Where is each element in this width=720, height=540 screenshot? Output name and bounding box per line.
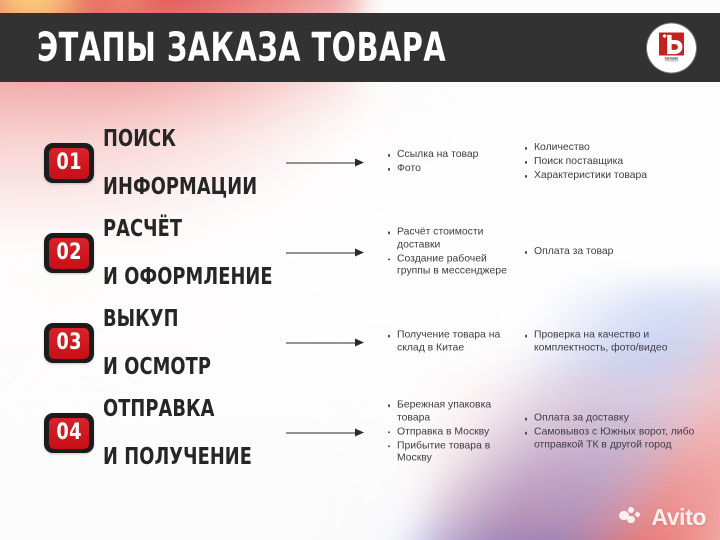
step-number-badge: 01 (44, 143, 94, 183)
arrow-line (286, 433, 356, 434)
bullet-item: Создание рабочей группы в мессенджере (386, 253, 518, 278)
step-title-line1: ОТПРАВКА (103, 397, 252, 421)
step-bullets-column-a: Ссылка на товарФото (386, 149, 518, 177)
bullet-item: Получение товара на склад в Китае (386, 330, 518, 355)
page-title: ЭТАПЫ ЗАКАЗА ТОВАРА (37, 28, 446, 68)
header-banner: ЭТАПЫ ЗАКАЗА ТОВАРА biztrade internation… (0, 13, 720, 82)
avito-wordmark: Avito (651, 506, 706, 529)
step-title-line1: ПОИСК (103, 127, 257, 151)
arrow-head (355, 429, 364, 437)
step-number-label: 03 (56, 332, 81, 354)
step-title-line1: РАСЧЁТ (103, 217, 273, 241)
avito-watermark: Avito (619, 502, 706, 532)
bullet-item: Поиск поставщика (523, 156, 703, 169)
bullet-item: Бережная упаковка товара (386, 399, 518, 424)
step-title-line2: И ПОЛУЧЕНИЕ (103, 445, 252, 469)
step-number-badge-inner: 01 (49, 148, 89, 179)
arrow-line (286, 163, 356, 164)
bullet-item: Расчёт стоимости доставки (386, 226, 518, 251)
biztrade-logo: biztrade international (647, 23, 696, 72)
arrow-head (355, 249, 364, 257)
arrow-right-icon (286, 429, 364, 438)
bullet-list: Расчёт стоимости доставкиСоздание рабоче… (386, 226, 518, 278)
bullet-item: Фото (386, 163, 518, 176)
step-title-line1: ВЫКУП (103, 307, 211, 331)
bullet-item: Ссылка на товар (386, 149, 518, 162)
bullet-list: Оплата за товар (523, 246, 703, 259)
bullet-list: Бережная упаковка товараОтправка в Москв… (386, 399, 518, 465)
step-bullets-column-b: Оплата за доставкуСамовывоз с Южных воро… (523, 413, 703, 454)
step-number-label: 02 (56, 242, 81, 264)
arrow-line (286, 253, 356, 254)
arrow-head (355, 339, 364, 347)
step-number-badge: 04 (44, 413, 94, 453)
steps-list: 01 ПОИСК ИНФОРМАЦИИ Ссылка на товарФото … (0, 118, 720, 478)
bullet-item: Характеристики товара (523, 170, 703, 183)
step-bullets-column-b: Проверка на качество и комплектность, фо… (523, 330, 703, 357)
step-bullets-column-a: Получение товара на склад в Китае (386, 330, 518, 357)
arrow-head (355, 159, 364, 167)
bullet-list: Оплата за доставкуСамовывоз с Южных воро… (523, 413, 703, 452)
arrow-right-icon (286, 249, 364, 258)
bullet-item: Отправка в Москву (386, 426, 518, 439)
step-bullets-column-a: Расчёт стоимости доставкиСоздание рабоче… (386, 226, 518, 279)
bullet-item: Количество (523, 142, 703, 155)
step-number-badge: 02 (44, 233, 94, 273)
bullet-list: КоличествоПоиск поставщикаХарактеристики… (523, 142, 703, 183)
step-bullets-column-a: Бережная упаковка товараОтправка в Москв… (386, 399, 518, 466)
step-number-label: 04 (56, 422, 81, 444)
bullet-item: Оплата за доставку (523, 413, 703, 426)
bullet-item: Самовывоз с Южных ворот, либо отправкой … (523, 427, 703, 452)
bullet-list: Получение товара на склад в Китае (386, 330, 518, 355)
bullet-item: Оплата за товар (523, 246, 703, 259)
arrow-line (286, 343, 356, 344)
logo-b-glyph-icon (666, 34, 683, 54)
step-title: ОТПРАВКА И ПОЛУЧЕНИЕ (103, 373, 276, 493)
bullet-list: Ссылка на товарФото (386, 149, 518, 176)
step-number-badge: 03 (44, 323, 94, 363)
logo-tagline-text: international (665, 60, 678, 63)
avito-dots-icon (619, 507, 646, 528)
bullet-item: Прибытие товара в Москву (386, 440, 518, 465)
step-bullets-column-b: КоличествоПоиск поставщикаХарактеристики… (523, 142, 703, 184)
arrow-right-icon (286, 159, 364, 168)
poster-canvas: ЭТАПЫ ЗАКАЗА ТОВАРА biztrade internation… (0, 0, 720, 540)
step-number-badge-inner: 03 (49, 328, 89, 359)
logo-mark-icon (659, 32, 684, 55)
bullet-list: Проверка на качество и комплектность, фо… (523, 330, 703, 355)
step-row: 04 ОТПРАВКА И ПОЛУЧЕНИЕ Бережная упаковк… (0, 388, 720, 478)
step-number-label: 01 (56, 152, 81, 174)
bullet-item: Проверка на качество и комплектность, фо… (523, 330, 703, 355)
step-number-badge-inner: 04 (49, 418, 89, 449)
step-bullets-column-b: Оплата за товар (523, 246, 703, 260)
arrow-right-icon (286, 339, 364, 348)
step-number-badge-inner: 02 (49, 238, 89, 269)
